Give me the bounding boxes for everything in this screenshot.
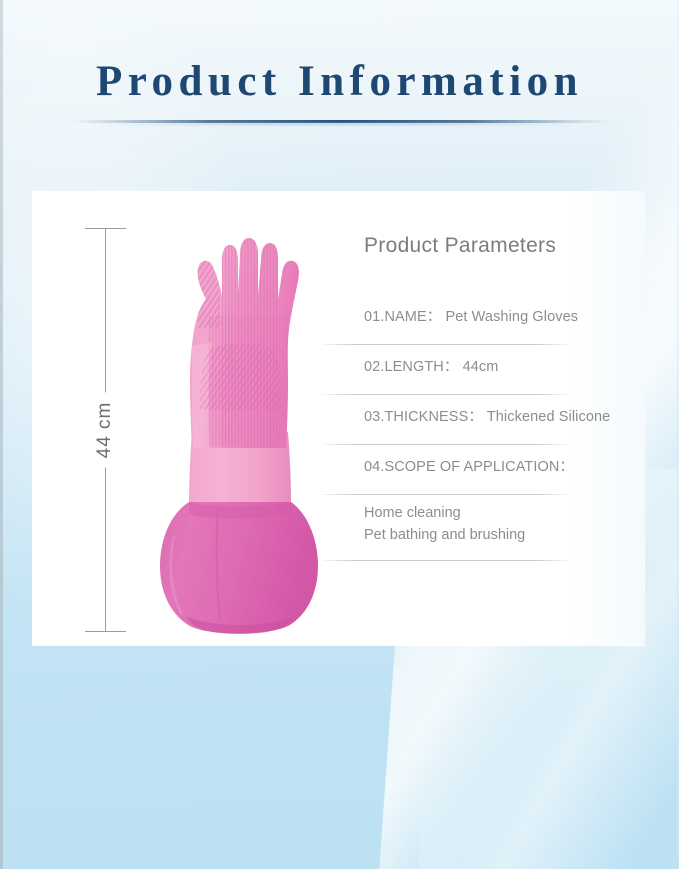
parameter-row-name: 01.NAME： Pet Washing Gloves bbox=[322, 302, 622, 352]
parameter-row-scope: 04.SCOPE OF APPLICATION： bbox=[322, 452, 622, 502]
parameter-divider-2 bbox=[322, 394, 568, 395]
dimension-label: 44 cm bbox=[89, 393, 121, 468]
dimension-cap-top bbox=[85, 228, 126, 229]
parameter-text-scope: 04.SCOPE OF APPLICATION： bbox=[364, 452, 622, 482]
scope-item-pet-bathing: Pet bathing and brushing bbox=[364, 524, 622, 546]
parameter-text-name: 01.NAME： Pet Washing Gloves bbox=[364, 302, 622, 332]
parameter-divider-5 bbox=[322, 560, 568, 561]
parameters-heading: Product Parameters bbox=[364, 234, 622, 258]
parameter-row-length: 02.LENGTH： 44cm bbox=[322, 352, 622, 402]
parameter-text-thickness: 03.THICKNESS： Thickened Silicone bbox=[364, 402, 622, 432]
glove-illustration bbox=[148, 196, 333, 636]
scope-item-home-cleaning: Home cleaning bbox=[364, 502, 622, 524]
title-underline-decoration bbox=[70, 118, 610, 125]
title-underline-shadow bbox=[97, 123, 583, 125]
page-left-edge bbox=[0, 0, 3, 869]
product-information-page: Product Information bbox=[0, 0, 679, 869]
dimension-indicator: 44 cm bbox=[72, 228, 138, 632]
parameter-divider-1 bbox=[322, 344, 568, 345]
parameter-row-thickness: 03.THICKNESS： Thickened Silicone bbox=[322, 402, 622, 452]
parameter-divider-3 bbox=[322, 444, 568, 445]
page-header: Product Information bbox=[0, 56, 679, 126]
glove-cuff bbox=[160, 502, 318, 634]
dimension-cap-bottom bbox=[85, 631, 126, 632]
parameter-divider-4 bbox=[322, 494, 568, 495]
parameter-text-length: 02.LENGTH： 44cm bbox=[364, 352, 622, 382]
scope-of-application-list: Home cleaning Pet bathing and brushing bbox=[322, 502, 622, 547]
product-image bbox=[148, 196, 333, 636]
product-parameters-panel: Product Parameters 01.NAME： Pet Washing … bbox=[322, 234, 622, 547]
page-title: Product Information bbox=[0, 56, 679, 108]
glove-hand bbox=[188, 238, 299, 448]
